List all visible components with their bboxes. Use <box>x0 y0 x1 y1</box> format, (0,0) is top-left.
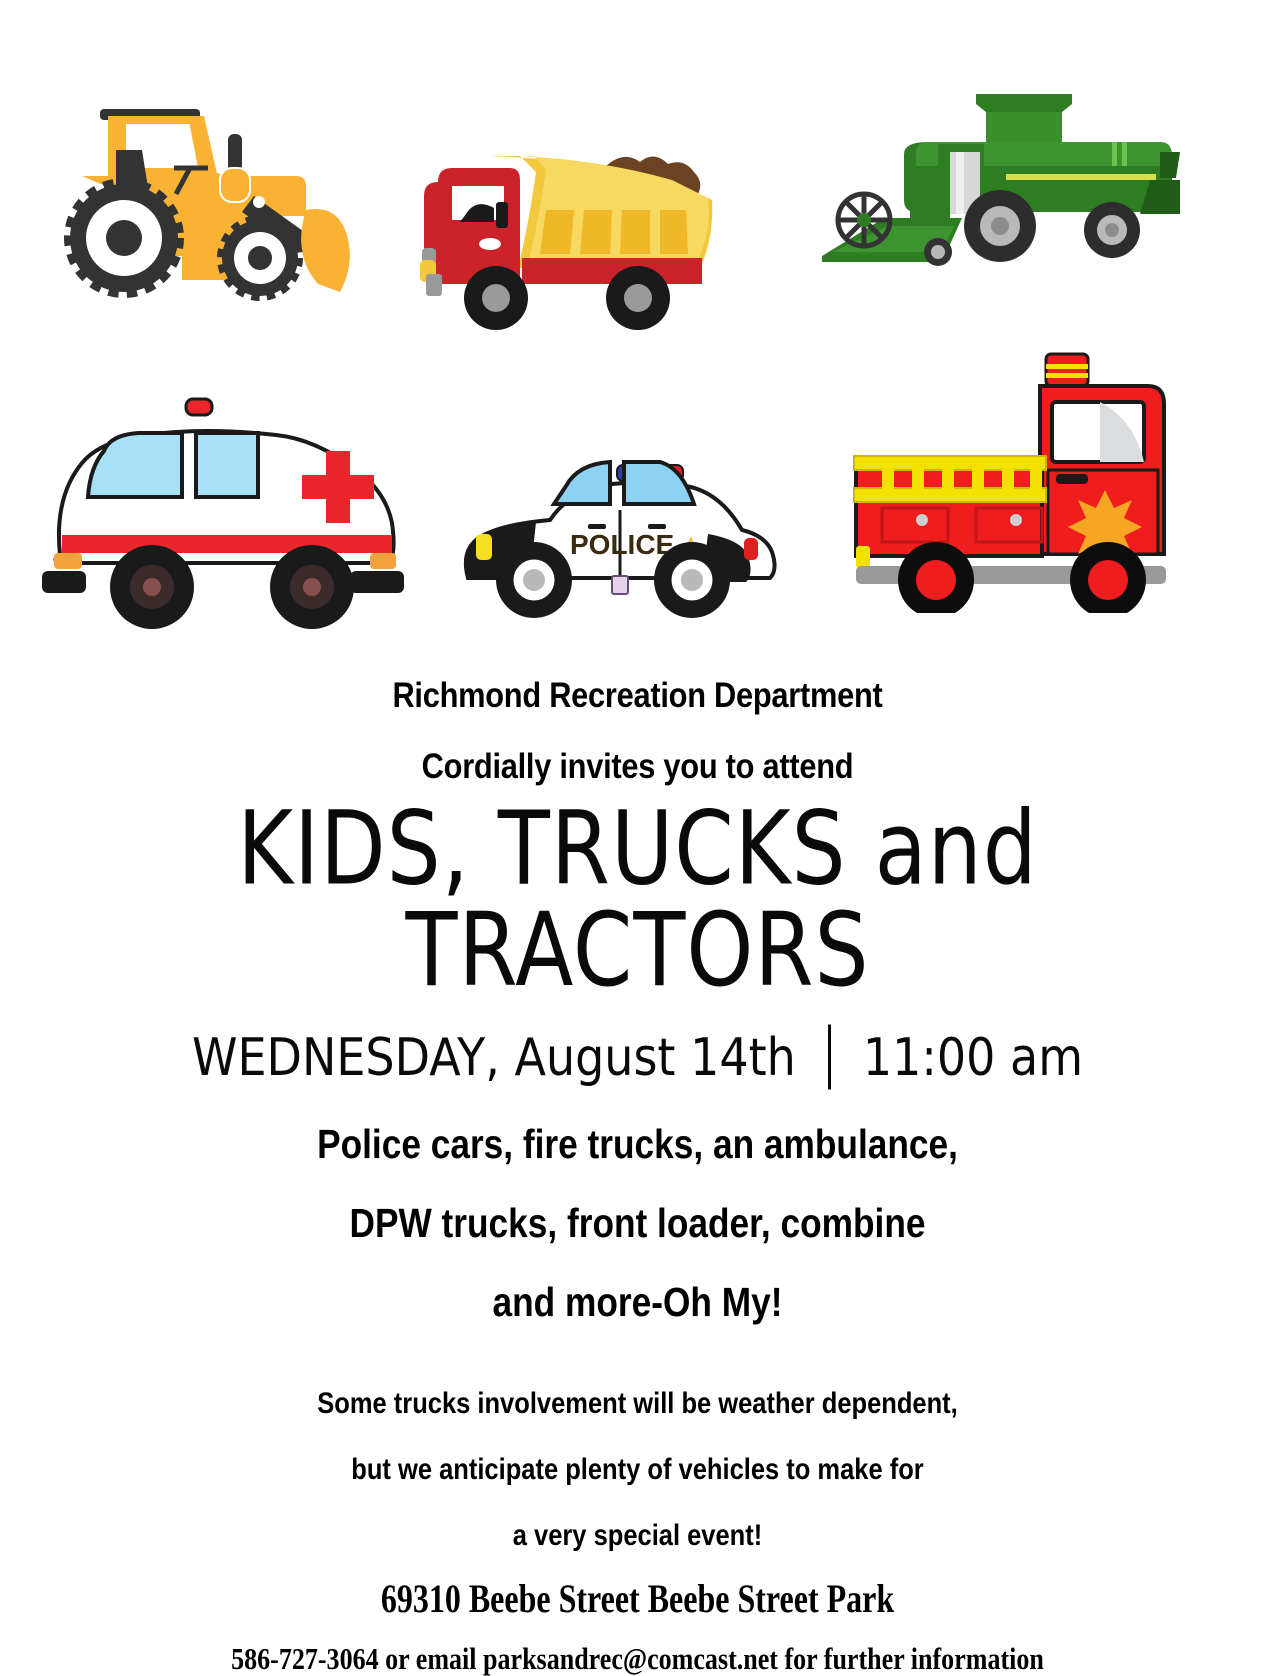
invitation-line: Cordially invites you to attend <box>77 749 1199 784</box>
note-line-3: a very special event! <box>96 1521 1180 1551</box>
feature-line-1: Police cars, fire trucks, an ambulance, <box>89 1124 1186 1165</box>
combine-harvester-icon <box>760 80 1180 285</box>
flyer-copy: Richmond Recreation Department Cordially… <box>0 678 1275 1674</box>
police-car-icon: POLICE <box>448 428 778 623</box>
police-car-label: POLICE <box>570 529 674 560</box>
venue-address: 69310 Beebe Street Beebe Street Park <box>128 1579 1148 1619</box>
feature-line-2: DPW trucks, front loader, combine <box>89 1203 1186 1244</box>
note-line-2: but we anticipate plenty of vehicles to … <box>96 1455 1180 1485</box>
vehicle-illustrations: POLICE <box>0 0 1275 660</box>
event-datetime: WEDNESDAY, August 14th 11:00 am <box>0 1025 1275 1090</box>
dump-truck-icon <box>420 118 730 348</box>
note-line-1: Some trucks involvement will be weather … <box>96 1389 1180 1419</box>
event-title: KIDS, TRUCKS and TRACTORS <box>6 799 1268 1002</box>
front-loader-tractor-icon <box>38 80 383 310</box>
feature-line-3: and more-Oh My! <box>89 1282 1186 1323</box>
event-date: WEDNESDAY, August 14th <box>192 1031 826 1083</box>
datetime-divider <box>828 1025 831 1090</box>
ambulance-icon <box>20 385 420 650</box>
organization-line: Richmond Recreation Department <box>77 678 1199 713</box>
event-time: 11:00 am <box>833 1031 1083 1083</box>
contact-line: 586-727-3064 or email parksandrec@comcas… <box>102 1643 1173 1674</box>
fire-truck-icon <box>800 348 1200 613</box>
flyer-page: POLICE <box>0 0 1275 1650</box>
